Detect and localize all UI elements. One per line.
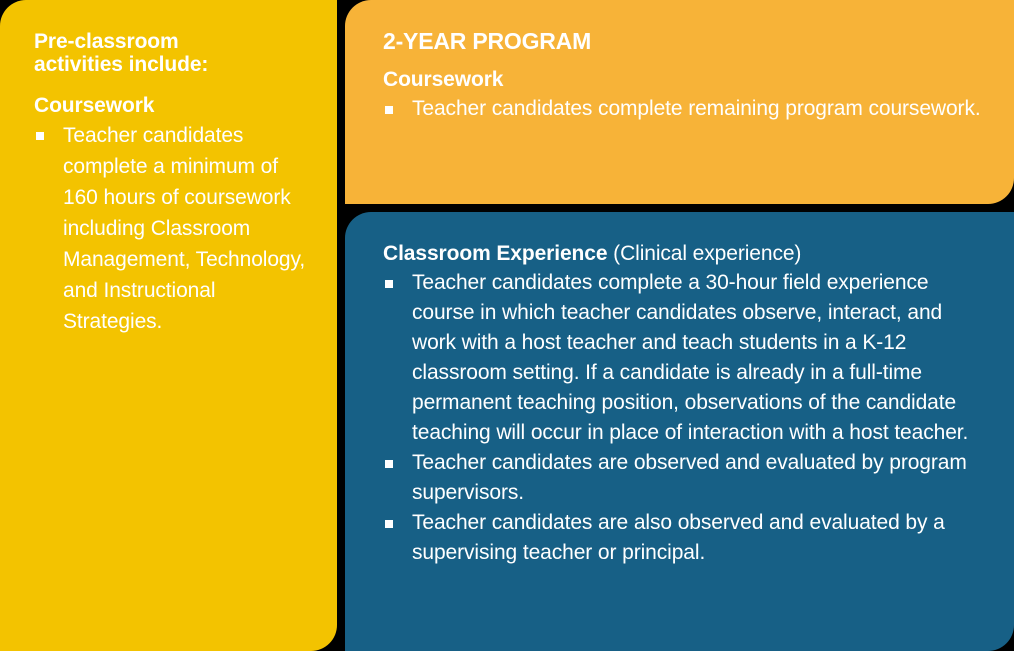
pre-classroom-subheading: Coursework <box>34 94 311 118</box>
two-year-program-bullet-list: Teacher candidates complete remaining pr… <box>383 94 984 124</box>
list-item: Teacher candidates complete remaining pr… <box>383 94 984 124</box>
classroom-experience-subheading-bold: Classroom Experience <box>383 242 607 265</box>
pre-classroom-bullet-list: Teacher candidates complete a minimum of… <box>34 120 311 337</box>
list-item: Teacher candidates complete a minimum of… <box>34 120 311 337</box>
two-year-program-title: 2-YEAR PROGRAM <box>383 28 984 54</box>
classroom-experience-bullet-list: Teacher candidates complete a 30-hour fi… <box>383 268 988 568</box>
square-bullet-icon <box>385 520 393 528</box>
list-item-text: Teacher candidates complete a 30-hour fi… <box>412 271 968 444</box>
square-bullet-icon <box>385 460 393 468</box>
list-item-text: Teacher candidates complete remaining pr… <box>412 97 981 120</box>
pre-classroom-title-block: Pre-classroom activities include: <box>34 30 311 76</box>
pre-classroom-title-line2: activities include: <box>34 53 311 76</box>
square-bullet-icon <box>385 106 393 114</box>
list-item-text: Teacher candidates are also observed and… <box>412 511 945 564</box>
list-item: Teacher candidates complete a 30-hour fi… <box>383 268 988 448</box>
list-item-text: Teacher candidates complete a minimum of… <box>63 124 305 333</box>
two-year-program-subheading: Coursework <box>383 68 984 92</box>
pre-classroom-panel: Pre-classroom activities include: Course… <box>0 0 337 651</box>
classroom-experience-subheading: Classroom Experience (Clinical experienc… <box>383 242 988 266</box>
list-item: Teacher candidates are observed and eval… <box>383 448 988 508</box>
classroom-experience-subheading-normal: (Clinical experience) <box>607 242 801 265</box>
two-year-program-panel: 2-YEAR PROGRAM Coursework Teacher candid… <box>345 0 1014 204</box>
square-bullet-icon <box>385 280 393 288</box>
list-item: Teacher candidates are also observed and… <box>383 508 988 568</box>
list-item-text: Teacher candidates are observed and eval… <box>412 451 967 504</box>
pre-classroom-title-line1: Pre-classroom <box>34 30 311 53</box>
classroom-experience-panel: Classroom Experience (Clinical experienc… <box>345 212 1014 651</box>
square-bullet-icon <box>36 132 44 140</box>
